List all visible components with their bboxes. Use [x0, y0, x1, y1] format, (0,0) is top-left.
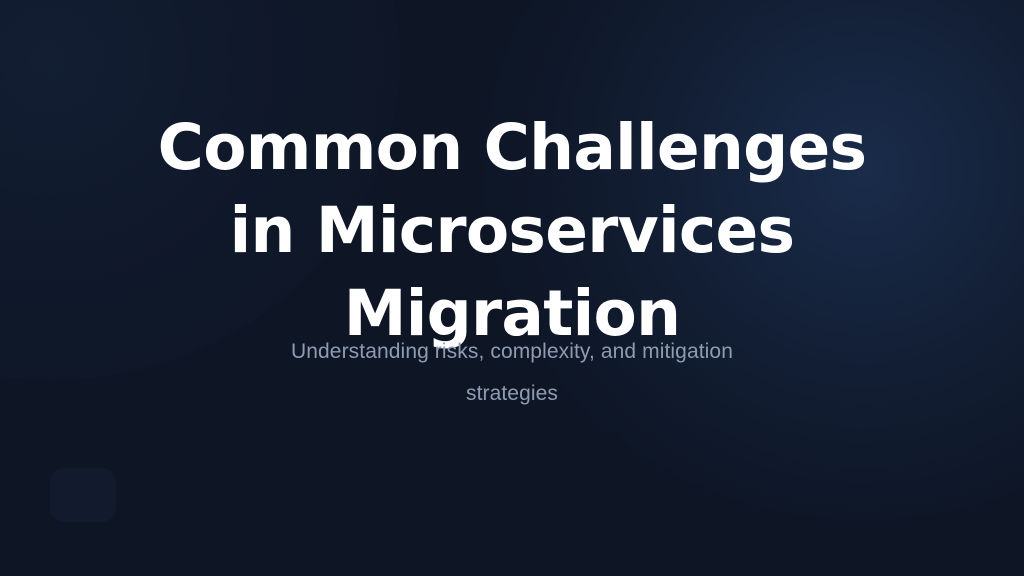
- slide-title: Common Challenges in Microservices Migra…: [117, 106, 907, 355]
- slide-subtitle: Understanding risks, complexity, and mit…: [252, 331, 772, 415]
- title-slide: Common Challenges in Microservices Migra…: [0, 0, 1024, 576]
- slide-content: Common Challenges in Microservices Migra…: [0, 0, 1024, 576]
